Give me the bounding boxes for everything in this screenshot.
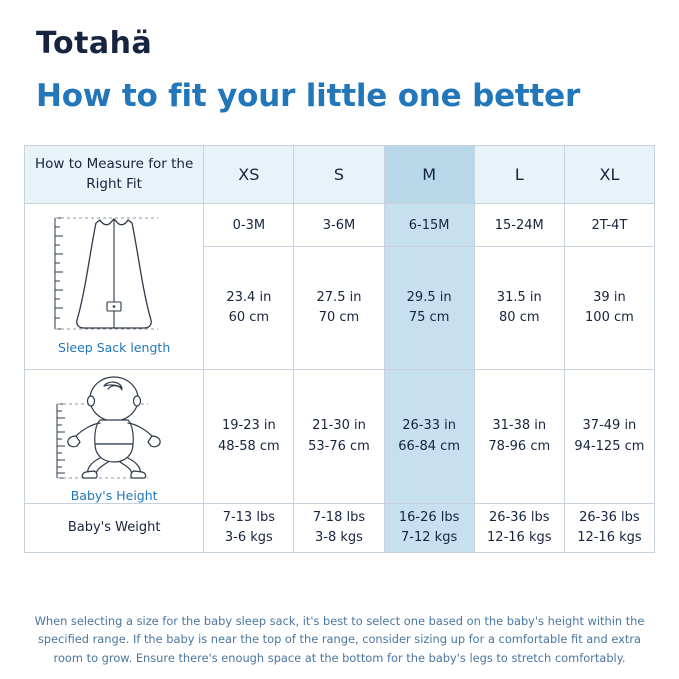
column-header-xl[interactable]: XL xyxy=(564,146,654,204)
height-value-xs: 19-23 in48-58 cm xyxy=(204,370,294,504)
age-value-s: 3-6M xyxy=(294,204,384,247)
age-value-xs: 0-3M xyxy=(204,204,294,247)
length-value-l: 31.5 in80 cm xyxy=(474,247,564,370)
size-chart-table-wrapper: How to Measure for the Right Fit XS S M … xyxy=(24,145,655,553)
sizing-note: When selecting a size for the baby sleep… xyxy=(24,612,655,667)
age-value-l: 15-24M xyxy=(474,204,564,247)
weight-value-s: 7-18 lbs3-8 kgs xyxy=(294,504,384,553)
weight-value-m: 16-26 lbs7-12 kgs xyxy=(384,504,474,553)
table-header-row: How to Measure for the Right Fit XS S M … xyxy=(25,146,655,204)
column-header-m[interactable]: M xyxy=(384,146,474,204)
weight-value-l: 26-36 lbs12-16 kgs xyxy=(474,504,564,553)
page-title: How to fit your little one better xyxy=(36,78,580,114)
column-header-s[interactable]: S xyxy=(294,146,384,204)
sleep-sack-illustration-cell: Sleep Sack length xyxy=(25,204,204,370)
size-chart-page: Totahä How to fit your little one better… xyxy=(0,0,679,679)
length-value-xl: 39 in100 cm xyxy=(564,247,654,370)
column-header-xs[interactable]: XS xyxy=(204,146,294,204)
age-value-m: 6-15M xyxy=(384,204,474,247)
column-header-l[interactable]: L xyxy=(474,146,564,204)
weight-value-xs: 7-13 lbs3-6 kgs xyxy=(204,504,294,553)
baby-illustration-cell: Baby's Height xyxy=(25,370,204,504)
column-header-measure: How to Measure for the Right Fit xyxy=(25,146,204,204)
height-value-l: 31-38 in78-96 cm xyxy=(474,370,564,504)
height-value-s: 21-30 in53-76 cm xyxy=(294,370,384,504)
table-row-baby-height: Baby's Height 19-23 in48-58 cm 21-30 in5… xyxy=(25,370,655,504)
baby-weight-label: Baby's Weight xyxy=(25,504,204,553)
age-value-xl: 2T-4T xyxy=(564,204,654,247)
length-value-s: 27.5 in70 cm xyxy=(294,247,384,370)
weight-value-xl: 26-36 lbs12-16 kgs xyxy=(564,504,654,553)
length-value-xs: 23.4 in60 cm xyxy=(204,247,294,370)
size-chart-table: How to Measure for the Right Fit XS S M … xyxy=(24,145,655,553)
baby-icon xyxy=(38,376,190,486)
height-value-m: 26-33 in66-84 cm xyxy=(384,370,474,504)
table-row-baby-weight: Baby's Weight 7-13 lbs3-6 kgs 7-18 lbs3-… xyxy=(25,504,655,553)
length-value-m: 29.5 in75 cm xyxy=(384,247,474,370)
height-value-xl: 37-49 in94-125 cm xyxy=(564,370,654,504)
sleep-sack-length-label: Sleep Sack length xyxy=(58,340,170,355)
sleep-sack-icon xyxy=(38,210,190,338)
brand-logo: Totahä xyxy=(36,26,152,61)
table-row-age: Sleep Sack length 0-3M 3-6M 6-15M 15-24M… xyxy=(25,204,655,247)
baby-height-label: Baby's Height xyxy=(71,488,158,503)
